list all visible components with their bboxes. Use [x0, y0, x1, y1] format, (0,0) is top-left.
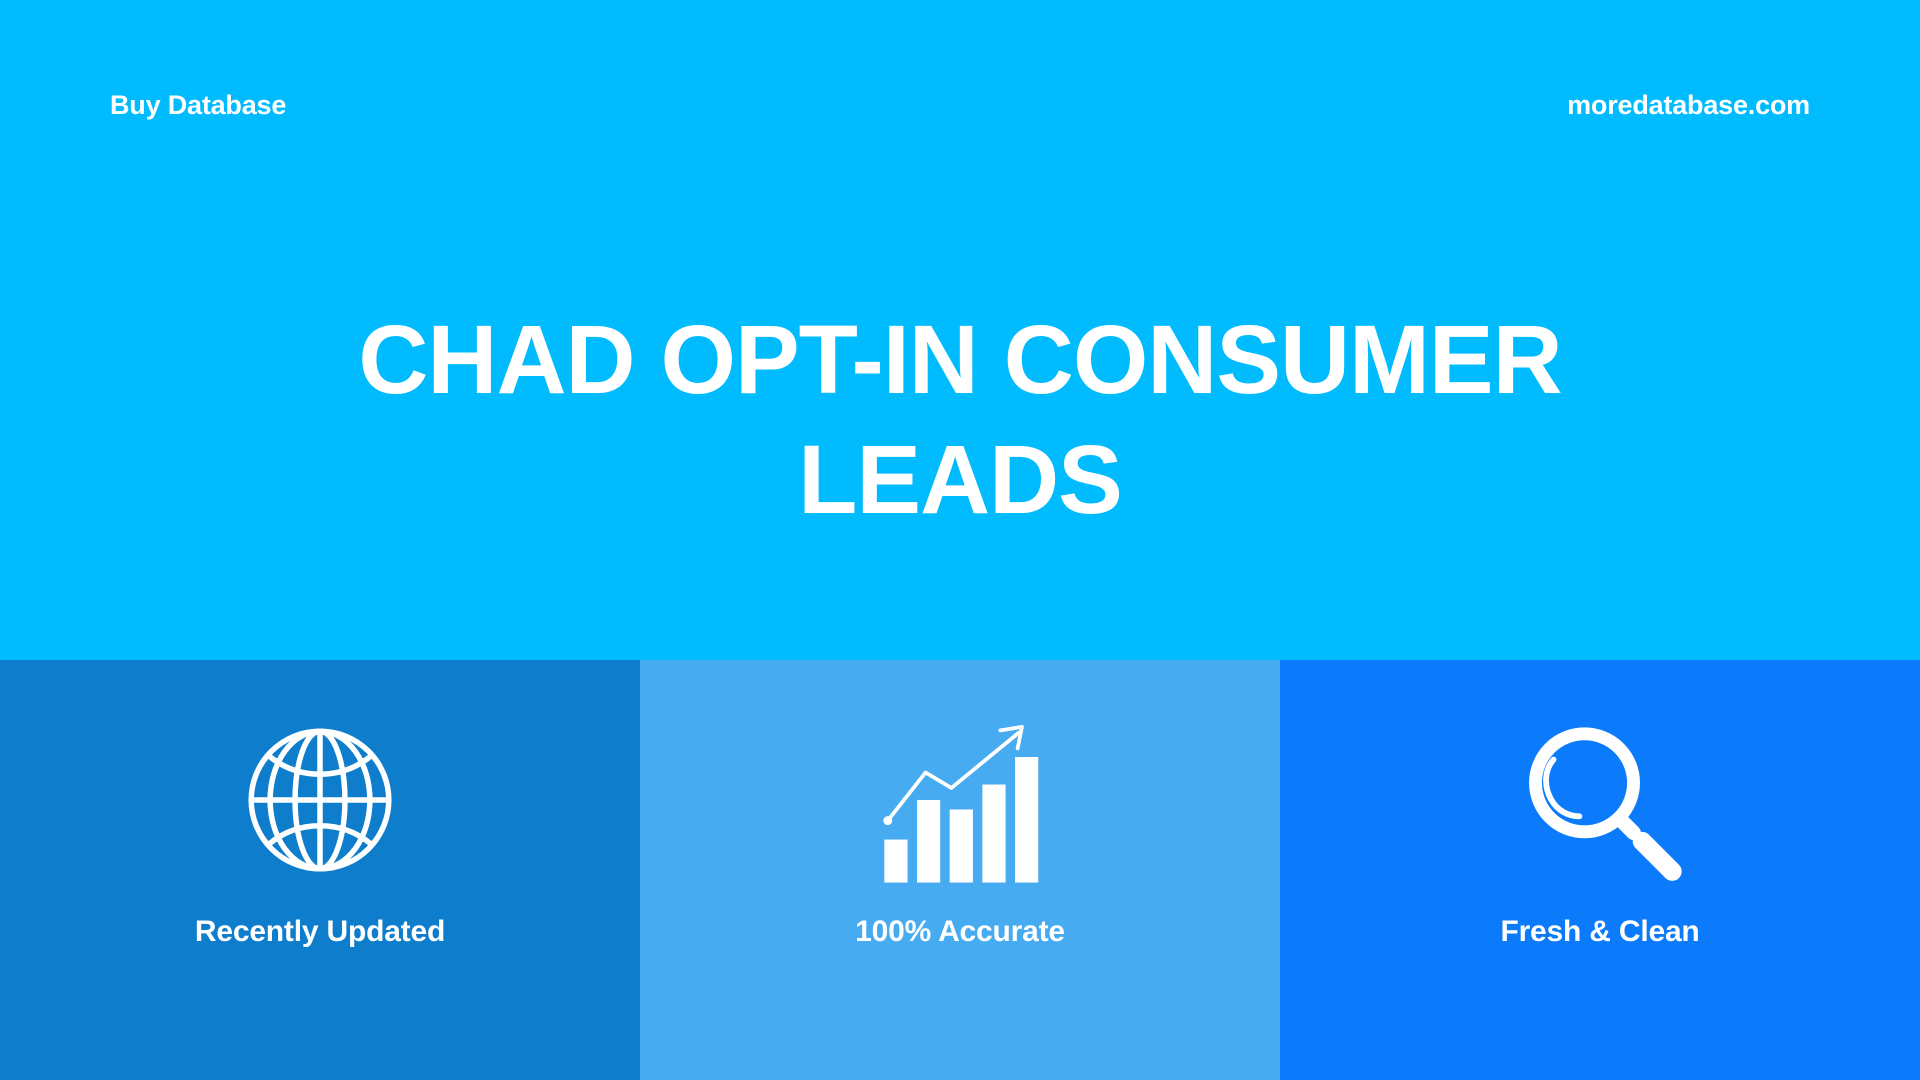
brand-name: Buy Database — [110, 90, 286, 121]
feature-panel-fresh-clean: Fresh & Clean — [1280, 660, 1920, 1080]
feature-panels: Recently Updated 100% Accu — [0, 660, 1920, 1080]
feature-label: 100% Accurate — [855, 915, 1065, 949]
feature-label: Recently Updated — [195, 915, 445, 949]
feature-label: Fresh & Clean — [1500, 915, 1699, 949]
page-title: CHAD OPT-IN CONSUMER LEADS — [245, 300, 1675, 541]
hero-title-container: CHAD OPT-IN CONSUMER LEADS — [0, 300, 1920, 541]
growth-bar-chart-icon — [874, 712, 1046, 887]
promo-banner: Buy Database moredatabase.com CHAD OPT-I… — [0, 0, 1920, 1080]
website-url: moredatabase.com — [1567, 90, 1810, 121]
feature-panel-accurate: 100% Accurate — [640, 660, 1280, 1080]
hero-topbar: Buy Database moredatabase.com — [0, 0, 1920, 210]
feature-panel-recently-updated: Recently Updated — [0, 660, 640, 1080]
globe-icon — [234, 712, 406, 887]
magnifying-glass-icon — [1514, 712, 1686, 887]
hero-section: Buy Database moredatabase.com CHAD OPT-I… — [0, 0, 1920, 660]
